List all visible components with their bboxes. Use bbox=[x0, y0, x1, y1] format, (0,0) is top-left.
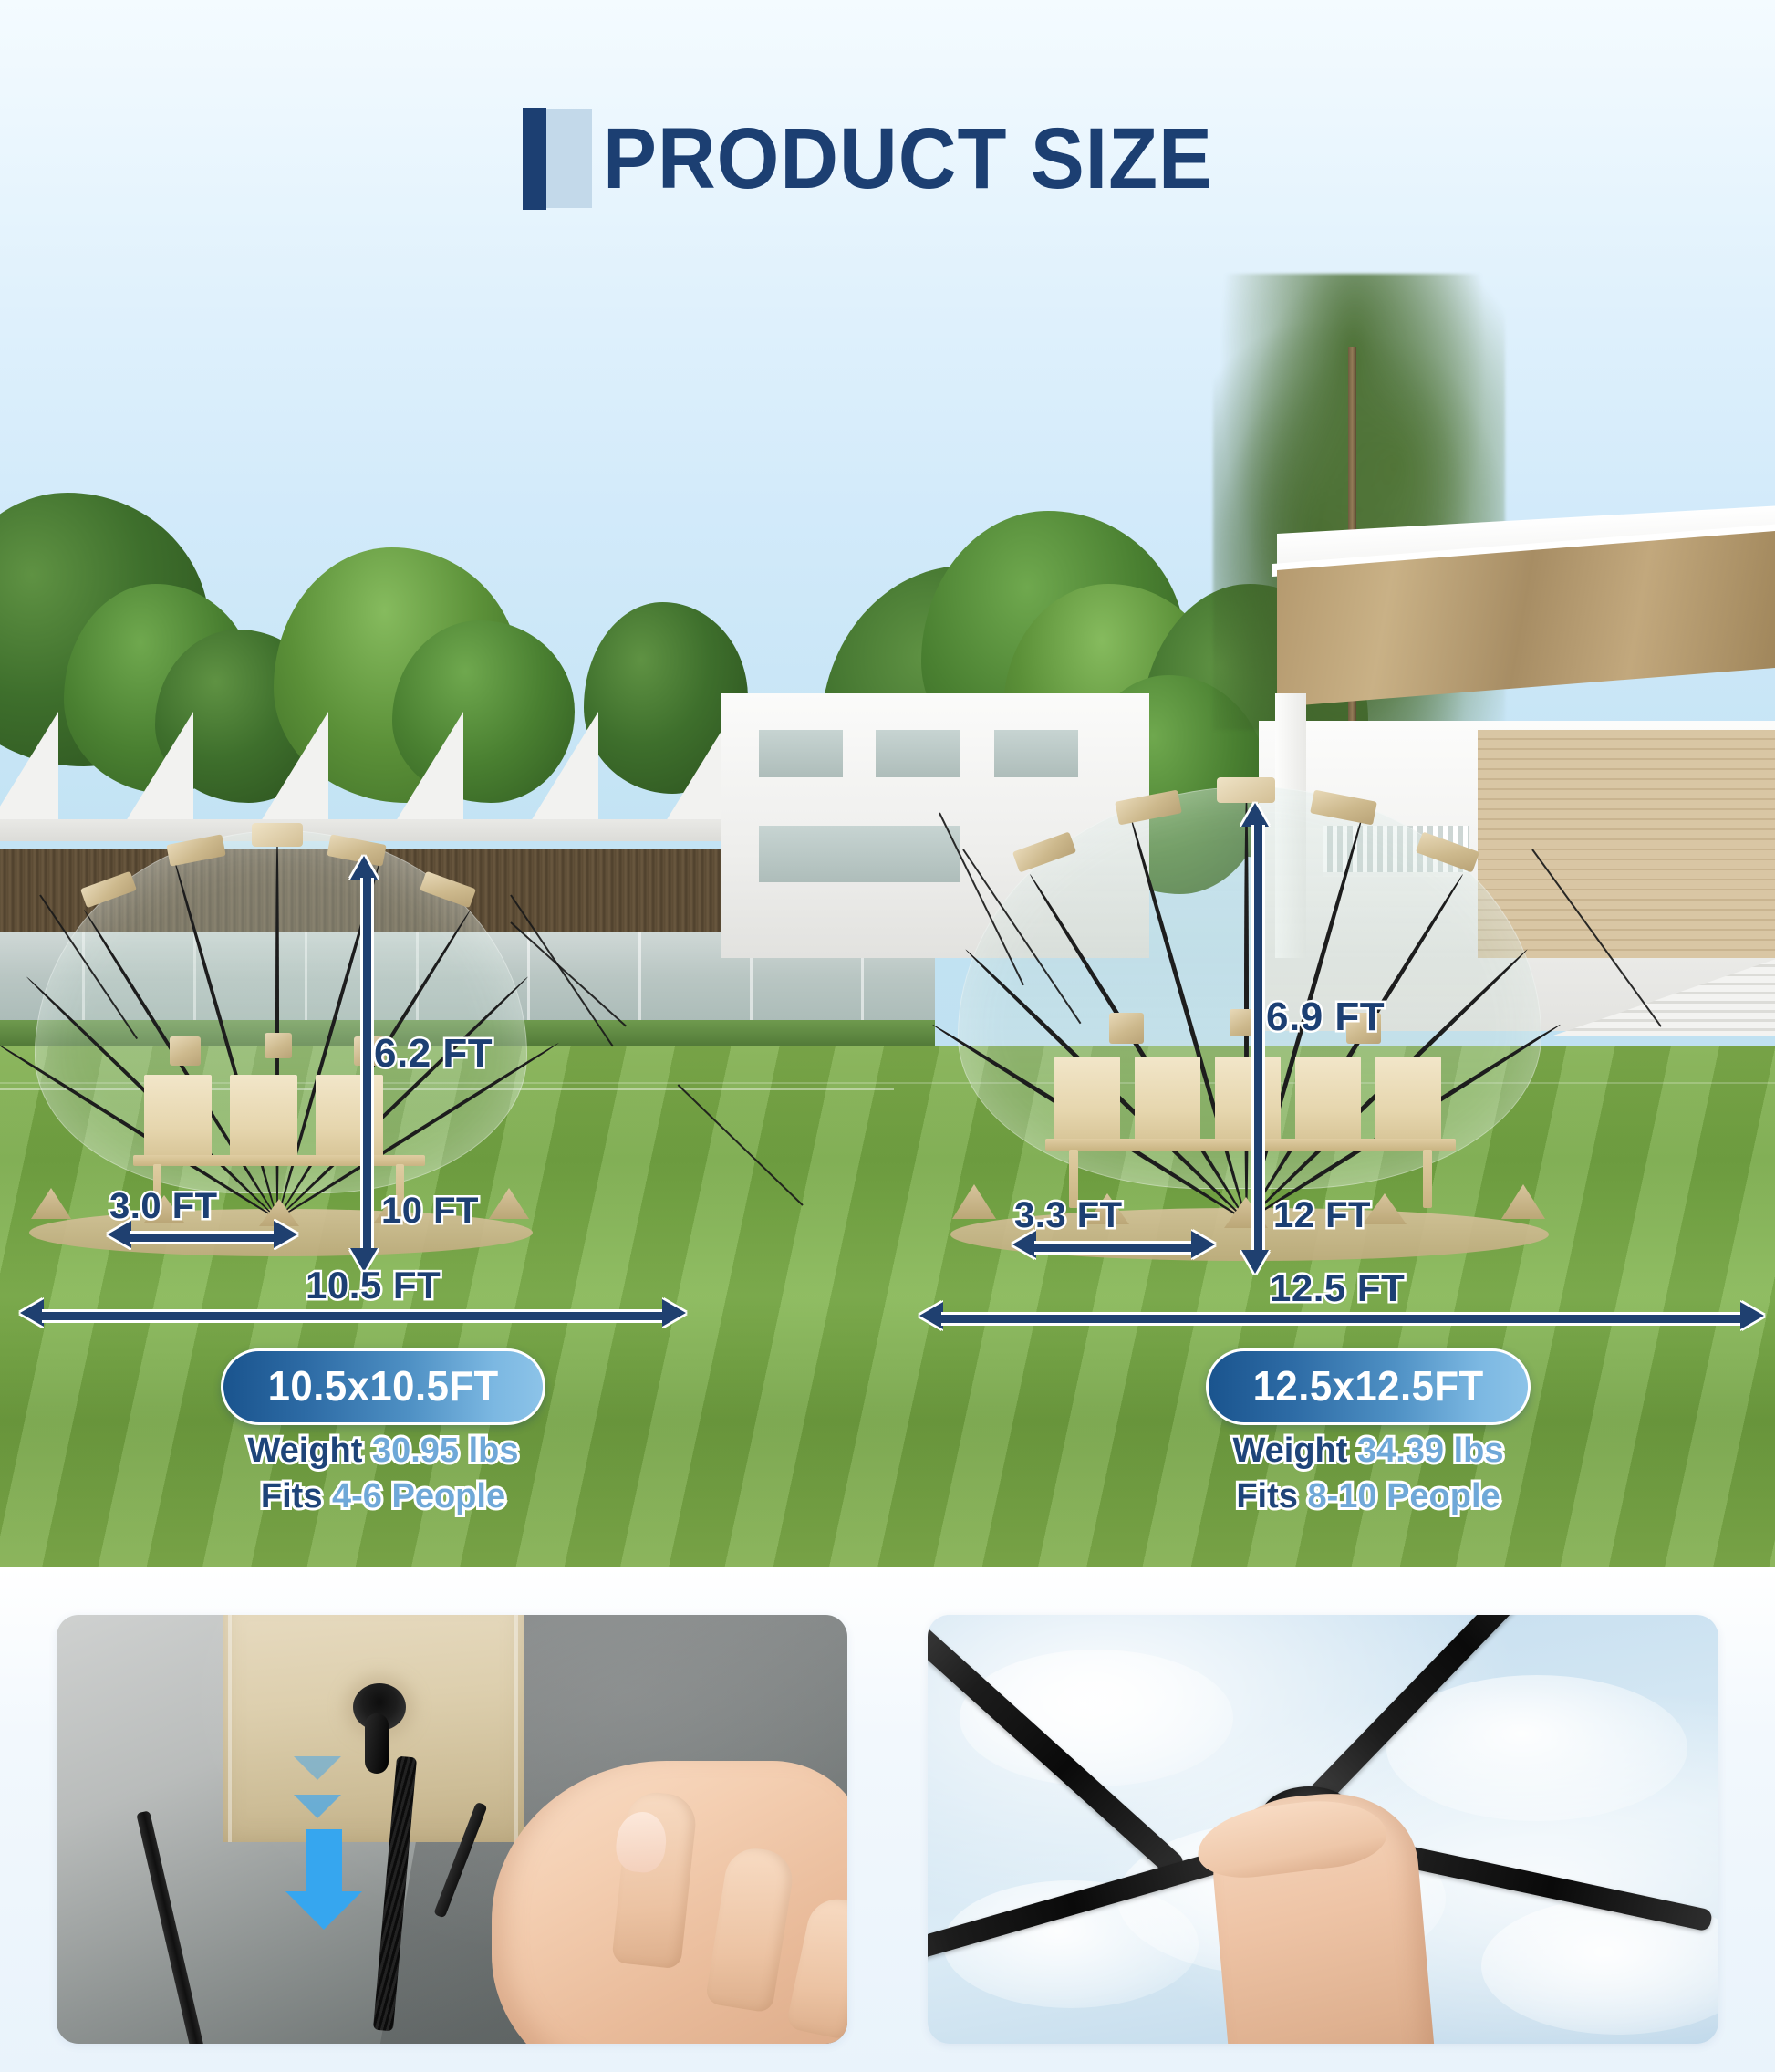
chair bbox=[1375, 1057, 1441, 1144]
weight-line-large: Weight 34.39 lbs bbox=[1076, 1431, 1660, 1471]
capacity-line-small: Fits 4-6 People bbox=[91, 1476, 675, 1516]
dim-label-inner-small: 10 FT bbox=[381, 1191, 479, 1232]
tent-tie-patch bbox=[1109, 1013, 1144, 1044]
dim-label-base-small: 10.5 FT bbox=[306, 1264, 441, 1307]
hero-scene: 6.2 FT 3.0 FT 10 FT 10.5 FT 6.9 FT 3.3 F… bbox=[0, 0, 1775, 1567]
dim-label-side-large: 3.3 FT bbox=[1014, 1195, 1123, 1236]
tent-foot bbox=[952, 1184, 996, 1219]
detail-section bbox=[0, 1567, 1775, 2072]
building-window bbox=[994, 730, 1078, 777]
arrow-down-icon bbox=[294, 1795, 341, 1818]
building-window bbox=[759, 730, 843, 777]
capacity-key: Fits bbox=[1236, 1477, 1298, 1515]
tent-foot bbox=[31, 1188, 71, 1219]
chair bbox=[144, 1075, 212, 1161]
tent-apex-cap bbox=[1217, 777, 1275, 803]
table bbox=[1045, 1139, 1456, 1151]
title-accent-bar bbox=[523, 108, 546, 210]
size-pill-small: 10.5x10.5FT bbox=[221, 1348, 545, 1425]
weight-key: Weight bbox=[247, 1432, 362, 1470]
building-window bbox=[759, 826, 960, 882]
badge-small: 10.5x10.5FT Weight 30.95 lbs Fits 4-6 Pe… bbox=[91, 1348, 675, 1516]
size-pill-label: 12.5x12.5FT bbox=[1252, 1363, 1483, 1409]
weight-line-small: Weight 30.95 lbs bbox=[91, 1431, 675, 1471]
tent-apex-cap bbox=[252, 823, 303, 847]
strap-toggle bbox=[365, 1713, 389, 1774]
tent-tie-patch bbox=[265, 1033, 292, 1058]
page-title-wrap: PRODUCT SIZE bbox=[0, 108, 1775, 210]
tent-foot bbox=[489, 1188, 529, 1219]
weight-key: Weight bbox=[1232, 1432, 1347, 1470]
tent-tie-patch bbox=[170, 1036, 201, 1066]
table-leg bbox=[1423, 1150, 1432, 1208]
dim-label-height-large: 6.9 FT bbox=[1266, 994, 1385, 1040]
weight-value: 34.39 lbs bbox=[1357, 1432, 1504, 1470]
chair bbox=[1215, 1057, 1281, 1144]
detail-panel-pull-strap bbox=[57, 1615, 847, 2044]
page-title: PRODUCT SIZE bbox=[603, 108, 1213, 210]
table bbox=[133, 1155, 425, 1166]
detail-panel-push-hub bbox=[928, 1615, 1718, 2044]
size-pill-large: 12.5x12.5FT bbox=[1206, 1348, 1531, 1425]
arrow-down-icon bbox=[306, 1829, 342, 1893]
capacity-value: 4-6 People bbox=[332, 1477, 505, 1515]
badge-large: 12.5x12.5FT Weight 34.39 lbs Fits 8-10 P… bbox=[1076, 1348, 1660, 1516]
capacity-line-large: Fits 8-10 People bbox=[1076, 1476, 1660, 1516]
chair bbox=[1135, 1057, 1200, 1144]
chair bbox=[1295, 1057, 1361, 1144]
chair bbox=[230, 1075, 297, 1161]
capacity-value: 8-10 People bbox=[1307, 1477, 1500, 1515]
dim-label-height-small: 6.2 FT bbox=[374, 1031, 493, 1077]
building-window bbox=[876, 730, 960, 777]
size-pill-label: 10.5x10.5FT bbox=[267, 1363, 498, 1409]
tent-foot bbox=[1501, 1184, 1545, 1219]
cloud bbox=[1386, 1675, 1687, 1821]
weight-value: 30.95 lbs bbox=[372, 1432, 519, 1470]
chair-row bbox=[1054, 1057, 1441, 1144]
dim-label-inner-large: 12 FT bbox=[1273, 1195, 1371, 1236]
chair-row bbox=[144, 1075, 383, 1161]
dim-label-base-large: 12.5 FT bbox=[1270, 1266, 1405, 1310]
dim-label-side-small: 3.0 FT bbox=[109, 1186, 218, 1227]
arrow-down-icon bbox=[294, 1756, 341, 1780]
capacity-key: Fits bbox=[261, 1477, 323, 1515]
chair bbox=[1054, 1057, 1120, 1144]
